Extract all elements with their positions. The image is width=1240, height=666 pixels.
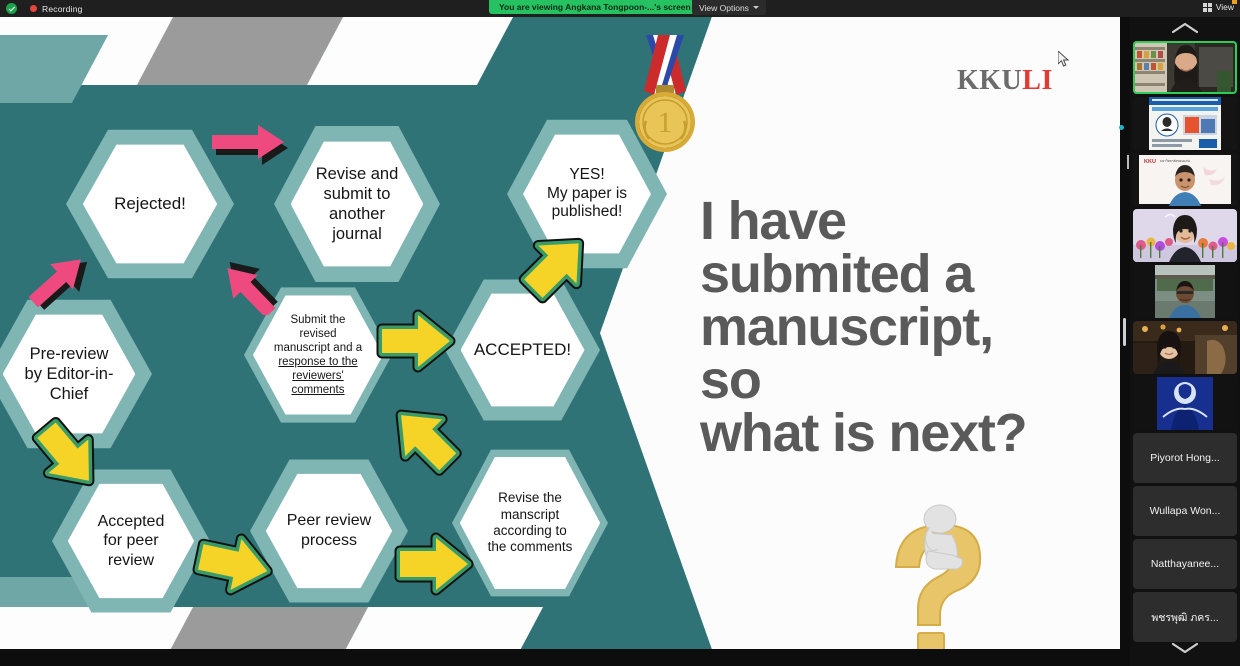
svg-text:KKU: KKU bbox=[1144, 159, 1156, 165]
question-mark-figure-icon bbox=[868, 489, 1008, 649]
recording-indicator-group: Recording bbox=[0, 3, 83, 14]
participant-video-tile[interactable] bbox=[1133, 265, 1237, 318]
zoom-meeting-window: Recording You are viewing Angkana Tongpo… bbox=[0, 0, 1240, 666]
scroll-down-button[interactable] bbox=[1130, 636, 1240, 660]
hexagon-accepted-text: ACCEPTED! bbox=[461, 290, 585, 410]
chevron-up-icon bbox=[1170, 21, 1200, 35]
recording-dot-icon bbox=[30, 5, 37, 12]
logo-text-li: LI bbox=[1022, 65, 1053, 96]
yellow-arrow-right-peer-review bbox=[192, 529, 276, 599]
panel-divider-mark bbox=[1127, 155, 1129, 169]
chevron-down-icon bbox=[753, 6, 759, 9]
participant-name: Wullapa Won... bbox=[1150, 505, 1221, 517]
svg-text:มหาวิทยาลัยขอนแก่น: มหาวิทยาลัยขอนแก่น bbox=[1160, 159, 1191, 163]
yellow-arrow-right-revise bbox=[392, 529, 476, 599]
filmstrip-resize-handle[interactable] bbox=[1123, 318, 1126, 346]
hexagon-revise-manuscript-text: Revise the manscript according to the co… bbox=[460, 453, 600, 593]
recording-label: Recording bbox=[42, 4, 83, 14]
yellow-arrow-right-accepted bbox=[374, 305, 458, 377]
hexagon-peer-review-process-text: Peer review process bbox=[266, 470, 392, 592]
medal-number: 1 bbox=[658, 106, 673, 139]
slide-title-line-4: so bbox=[700, 354, 1120, 407]
slide-title-line-3: manuscript, bbox=[700, 301, 1120, 354]
yellow-arrow-down-right-prereview bbox=[30, 415, 108, 499]
gold-medal-icon: 1 bbox=[622, 35, 708, 153]
decor-bar-white-bottom-2 bbox=[332, 607, 543, 649]
participant-video-tile[interactable] bbox=[1133, 97, 1237, 150]
security-shield-icon[interactable] bbox=[6, 3, 17, 14]
participant-video-tile[interactable] bbox=[1133, 209, 1237, 262]
participant-video-tile[interactable] bbox=[1133, 377, 1237, 430]
participant-video-tile[interactable]: KKU มหาวิทยาลัยขอนแก่น bbox=[1133, 153, 1237, 206]
decor-bar-white-top-2 bbox=[307, 17, 513, 85]
slide-title-line-2: submited a bbox=[700, 248, 1120, 301]
participant-name-tile[interactable]: Natthayanee... bbox=[1133, 539, 1237, 589]
participant-name-tile[interactable]: Piyorot Hong... bbox=[1133, 433, 1237, 483]
yellow-arrow-up-right-published bbox=[518, 225, 594, 307]
participant-name: Piyorot Hong... bbox=[1150, 452, 1219, 464]
pink-arrow-right bbox=[212, 125, 304, 169]
participant-name: พชรพุฒิ ภคร... bbox=[1151, 609, 1218, 626]
decor-bar-gray-bottom bbox=[157, 607, 368, 649]
chevron-down-icon bbox=[1170, 641, 1200, 655]
screen-share-banner: You are viewing Angkana Tongpoon-...'s s… bbox=[489, 0, 712, 14]
view-options-button[interactable]: View Options bbox=[692, 0, 766, 15]
view-badge-icon bbox=[1232, 0, 1237, 4]
view-options-label: View Options bbox=[699, 3, 749, 13]
pink-arrow-up-left bbox=[28, 239, 112, 311]
kkuli-logo: KKULI bbox=[957, 65, 1053, 97]
hexagon-revise-another-journal-text: Revise and submit to another journal bbox=[291, 138, 424, 271]
participant-name: Natthayanee... bbox=[1151, 558, 1219, 570]
participant-name-tile[interactable]: พชรพุฒิ ภคร... bbox=[1133, 592, 1237, 642]
slide-title-line-1: I have bbox=[700, 195, 1120, 248]
mouse-cursor-icon bbox=[1058, 51, 1070, 68]
share-indicator-dot bbox=[1119, 125, 1124, 130]
view-layout-button[interactable]: View bbox=[1203, 2, 1234, 12]
participant-video-tile[interactable] bbox=[1133, 41, 1237, 94]
logo-text-kku: KKU bbox=[957, 65, 1022, 96]
grid-view-icon bbox=[1203, 3, 1212, 12]
slide-title-line-5: what is next? bbox=[700, 407, 1120, 460]
screen-share-text: You are viewing Angkana Tongpoon-...'s s… bbox=[499, 2, 691, 12]
shared-screen-slide[interactable]: Rejected! Revise and submit to another j… bbox=[0, 17, 1120, 649]
slide-title: I have submited a manuscript, so what is… bbox=[700, 195, 1120, 460]
participant-name-tile[interactable]: Wullapa Won... bbox=[1133, 486, 1237, 536]
participant-video-tile[interactable] bbox=[1133, 321, 1237, 374]
top-status-bar: Recording You are viewing Angkana Tongpo… bbox=[0, 0, 1240, 17]
pink-arrow-up-left-2 bbox=[195, 239, 285, 315]
scroll-up-button[interactable] bbox=[1130, 17, 1240, 39]
decor-bar-white-bottom-1 bbox=[0, 607, 198, 649]
participant-filmstrip[interactable]: KKU มหาวิทยาลัยขอนแก่น bbox=[1130, 17, 1240, 666]
yellow-arrow-up-left-submit bbox=[382, 395, 464, 479]
